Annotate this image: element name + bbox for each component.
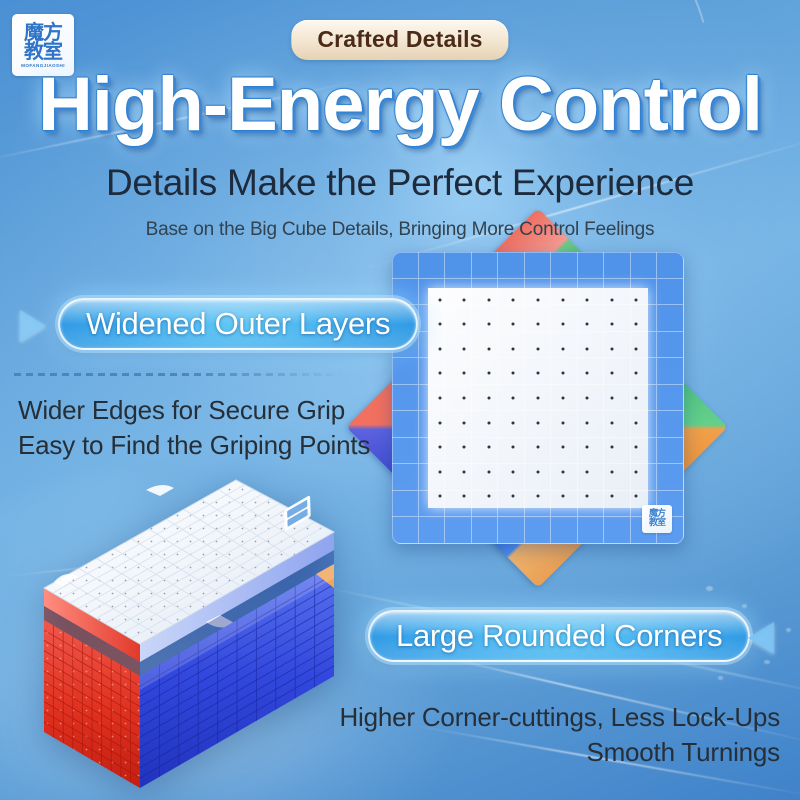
page-tagline: Base on the Big Cube Details, Bringing M… — [0, 219, 800, 241]
bokeh-3 — [764, 660, 770, 664]
feature-pill-label: Large Rounded Corners — [396, 618, 722, 654]
cube-face-image: 魔方 教室 — [392, 252, 684, 544]
triangle-left-icon — [748, 622, 774, 654]
bokeh-5 — [786, 628, 791, 632]
cube-front-face: 魔方 教室 — [392, 252, 684, 544]
page-title: High-Energy Control — [0, 62, 800, 148]
feature-pill-widened-outer-layers[interactable]: Widened Outer Layers — [58, 298, 418, 350]
triangle-right-icon — [20, 310, 46, 342]
bokeh-1 — [706, 586, 713, 591]
feature-description-1: Wider Edges for Secure Grip Easy to Find… — [18, 393, 370, 463]
cube-isometric-image — [28, 470, 358, 800]
feature-description-2-line2: Smooth Turnings — [339, 735, 780, 770]
page-subtitle: Details Make the Perfect Experience — [0, 162, 800, 204]
feature-description-2-line1: Higher Corner-cuttings, Less Lock-Ups — [339, 700, 780, 735]
bokeh-4 — [718, 676, 723, 680]
feature-pill-label: Widened Outer Layers — [86, 306, 390, 342]
poster-canvas: 魔方 教室 MOFANGJIAOSHI Crafted Details High… — [0, 0, 800, 800]
feature-description-2: Higher Corner-cuttings, Less Lock-Ups Sm… — [339, 700, 780, 770]
brand-logo-cn-line2: 教室 — [24, 42, 62, 61]
feature-description-1-line1: Wider Edges for Secure Grip — [18, 393, 370, 428]
bokeh-2 — [742, 604, 747, 608]
feature-divider — [14, 373, 344, 376]
feature-description-1-line2: Easy to Find the Griping Points — [18, 428, 370, 463]
cube-sticker-cn-line2: 教室 — [649, 519, 665, 528]
feature-pill-large-rounded-corners[interactable]: Large Rounded Corners — [368, 610, 750, 662]
cube-face-dot-pattern — [428, 288, 649, 509]
cube-face-brand-sticker: 魔方 教室 — [642, 505, 672, 533]
crafted-details-badge: Crafted Details — [291, 20, 508, 60]
